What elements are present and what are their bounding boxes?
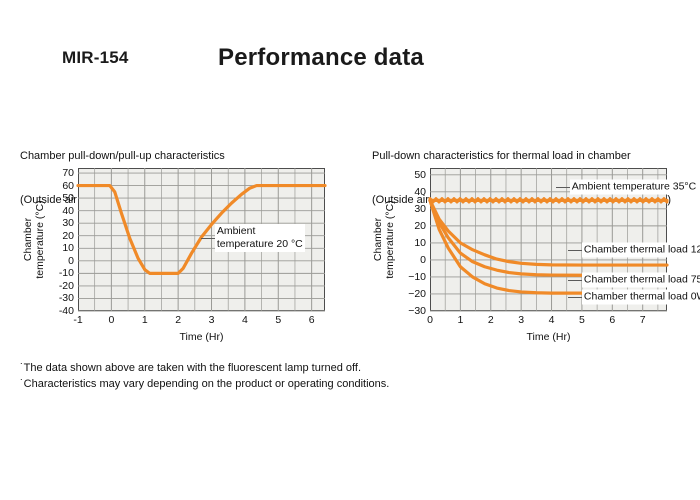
left-y-axis-label-line2: temperature (°C) xyxy=(34,168,46,311)
y-tick-label: 60 xyxy=(62,180,74,191)
left-y-axis-label-line1: Chamber xyxy=(22,168,34,311)
y-tick-label: 30 xyxy=(414,204,426,215)
x-tick-label: 2 xyxy=(175,315,181,326)
chart-annotation: Ambient temperature 20 °C xyxy=(215,224,305,252)
chart-pull-down-pull-up: Chamber temperature (°C) Time (Hr) 70605… xyxy=(0,155,350,355)
right-y-axis-label-line2: temperature (°C) xyxy=(384,168,396,311)
annotation-leader-line xyxy=(568,250,582,251)
y-tick-label: 50 xyxy=(414,170,426,181)
x-tick-label: 4 xyxy=(242,315,248,326)
annotation-leader-line xyxy=(201,238,215,239)
x-tick-label: 1 xyxy=(142,315,148,326)
chart-annotation: Chamber thermal load 120W xyxy=(582,242,700,257)
y-tick-label: -30 xyxy=(59,293,74,304)
right-y-axis-label-line1: Chamber xyxy=(372,168,384,311)
y-tick-label: 10 xyxy=(62,243,74,254)
chart-annotation: Chamber thermal load 75W xyxy=(582,273,700,288)
chart-annotation: Ambient temperature 35°C xyxy=(570,179,698,194)
x-tick-label: 0 xyxy=(427,315,433,326)
footnotes: ˙The data shown above are taken with the… xyxy=(20,360,389,392)
x-tick-label: 6 xyxy=(309,315,315,326)
right-y-axis-label: Chamber temperature (°C) xyxy=(372,168,396,311)
y-tick-label: 10 xyxy=(414,238,426,249)
y-tick-label: 70 xyxy=(62,168,74,179)
x-tick-label: 3 xyxy=(518,315,524,326)
right-x-axis-label: Time (Hr) xyxy=(527,331,571,343)
y-tick-label: 0 xyxy=(420,255,426,266)
y-tick-label: -20 xyxy=(59,281,74,292)
x-tick-label: 6 xyxy=(609,315,615,326)
footnote-1: ˙The data shown above are taken with the… xyxy=(20,360,389,376)
left-x-axis-label: Time (Hr) xyxy=(180,331,224,343)
chart-thermal-load-pull-down: Chamber temperature (°C) Time (Hr) 50403… xyxy=(350,155,700,355)
y-tick-label: −30 xyxy=(408,306,426,317)
x-tick-label: 7 xyxy=(640,315,646,326)
page-header: MIR-154 Performance data xyxy=(0,48,700,80)
performance-data-page: MIR-154 Performance data Chamber pull-do… xyxy=(0,0,700,500)
x-tick-label: 0 xyxy=(108,315,114,326)
page-title: Performance data xyxy=(218,44,424,72)
model-number: MIR-154 xyxy=(62,48,129,68)
y-tick-label: 20 xyxy=(62,230,74,241)
y-tick-label: 30 xyxy=(62,218,74,229)
x-tick-label: 5 xyxy=(579,315,585,326)
y-tick-label: 20 xyxy=(414,221,426,232)
y-tick-label: 50 xyxy=(62,193,74,204)
x-tick-label: 4 xyxy=(549,315,555,326)
left-plot-area: Time (Hr) 706050403020100-10-20-30-40-10… xyxy=(78,168,325,311)
y-tick-label: -40 xyxy=(59,306,74,317)
y-tick-label: −20 xyxy=(408,289,426,300)
annotation-leader-line xyxy=(568,297,582,298)
annotation-leader-line xyxy=(568,280,582,281)
right-plot-area: Time (Hr) 50403020100−10−20−3001234567Am… xyxy=(430,168,667,311)
annotation-leader-line xyxy=(556,187,570,188)
x-tick-label: 2 xyxy=(488,315,494,326)
x-tick-label: 3 xyxy=(209,315,215,326)
left-y-axis-label: Chamber temperature (°C) xyxy=(22,168,46,311)
footnote-2: ˙Characteristics may vary depending on t… xyxy=(20,376,389,392)
y-tick-label: −10 xyxy=(408,272,426,283)
y-tick-label: 0 xyxy=(68,256,74,267)
y-tick-label: 40 xyxy=(414,187,426,198)
x-tick-label: 1 xyxy=(457,315,463,326)
y-tick-label: 40 xyxy=(62,205,74,216)
x-tick-label: 5 xyxy=(275,315,281,326)
chart-annotation: Chamber thermal load 0W xyxy=(582,290,700,305)
x-tick-label: -1 xyxy=(73,315,82,326)
y-tick-label: -10 xyxy=(59,268,74,279)
